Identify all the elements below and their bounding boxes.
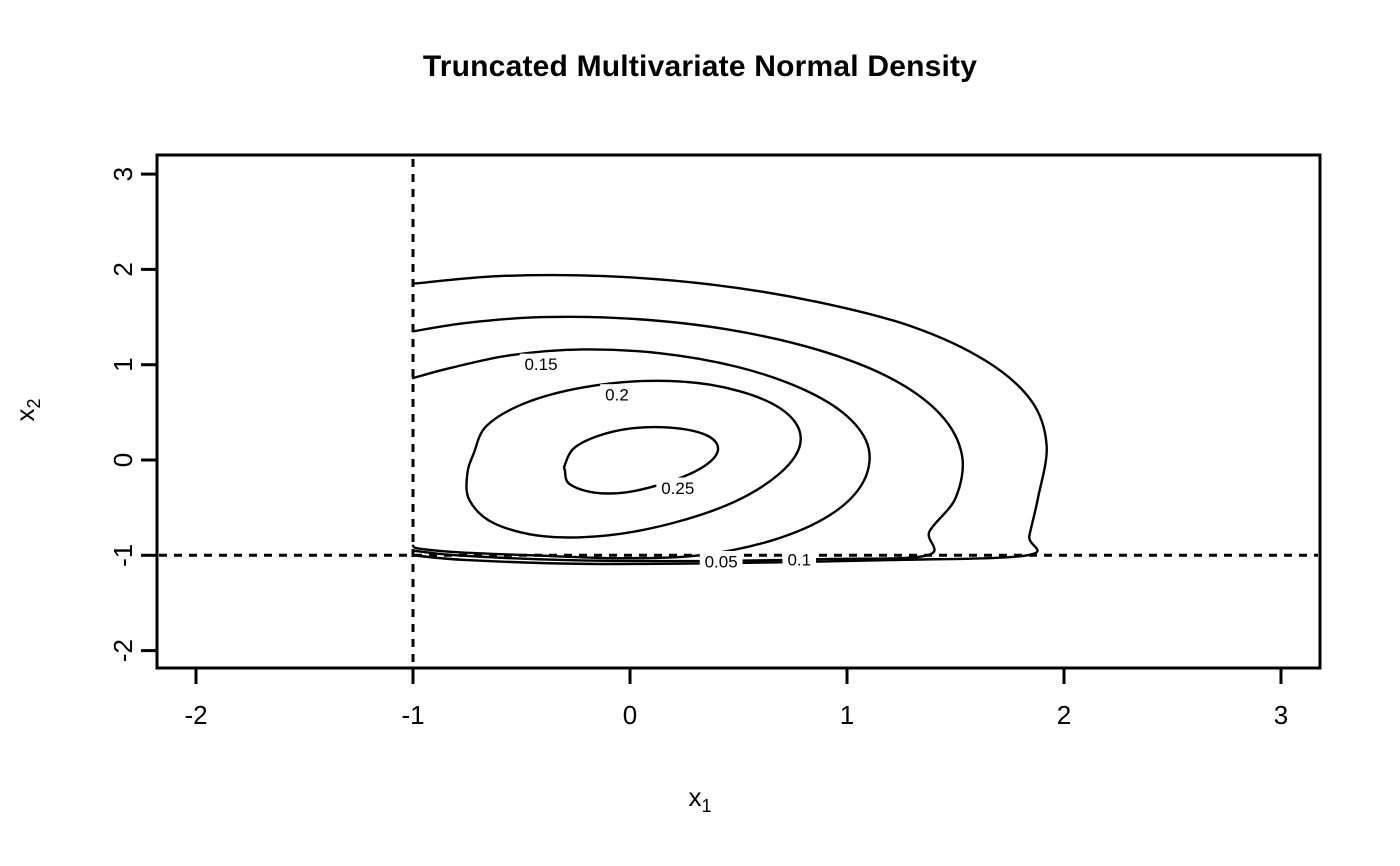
y-axis-title-base: x	[10, 409, 40, 422]
x-axis-tick-label: 1	[840, 700, 854, 730]
x-axis-tick-label: -1	[401, 700, 424, 730]
x-axis-tick-label: -2	[184, 700, 207, 730]
x-axis-title-base: x	[688, 782, 701, 812]
contour-label: 0.25	[661, 479, 694, 498]
contour-label: 0.2	[605, 386, 629, 405]
contour-lines-layer	[413, 275, 1047, 564]
contour-label: 0.05	[705, 552, 738, 571]
y-axis-tick-label: 1	[108, 357, 138, 371]
contour-plot-figure: Truncated Multivariate Normal Density -2…	[0, 0, 1400, 866]
truncation-lines-layer	[159, 159, 1318, 664]
axis-layer: -2-10123-2-10123	[108, 155, 1320, 730]
x-axis-tick-label: 0	[623, 700, 637, 730]
y-axis-title-subscript: 2	[24, 399, 44, 409]
y-axis-tick-label: -2	[108, 639, 138, 662]
x-axis-title-subscript: 1	[701, 796, 711, 816]
contour-label: 0.1	[787, 551, 811, 570]
y-axis-tick-label: 0	[108, 453, 138, 467]
y-axis-title: x2	[10, 380, 45, 440]
y-axis-tick-label: 2	[108, 262, 138, 276]
y-axis-tick-label: 3	[108, 167, 138, 181]
x-axis-tick-label: 3	[1274, 700, 1288, 730]
contour-labels-layer: 0.050.10.150.20.25	[520, 354, 816, 572]
x-axis-tick-label: 2	[1057, 700, 1071, 730]
contour-label: 0.15	[524, 355, 557, 374]
plot-canvas: -2-10123-2-10123 0.050.10.150.20.25	[0, 0, 1400, 866]
x-axis-title: x1	[0, 782, 1400, 817]
plot-frame	[157, 155, 1320, 668]
y-axis-tick-label: -1	[108, 544, 138, 567]
